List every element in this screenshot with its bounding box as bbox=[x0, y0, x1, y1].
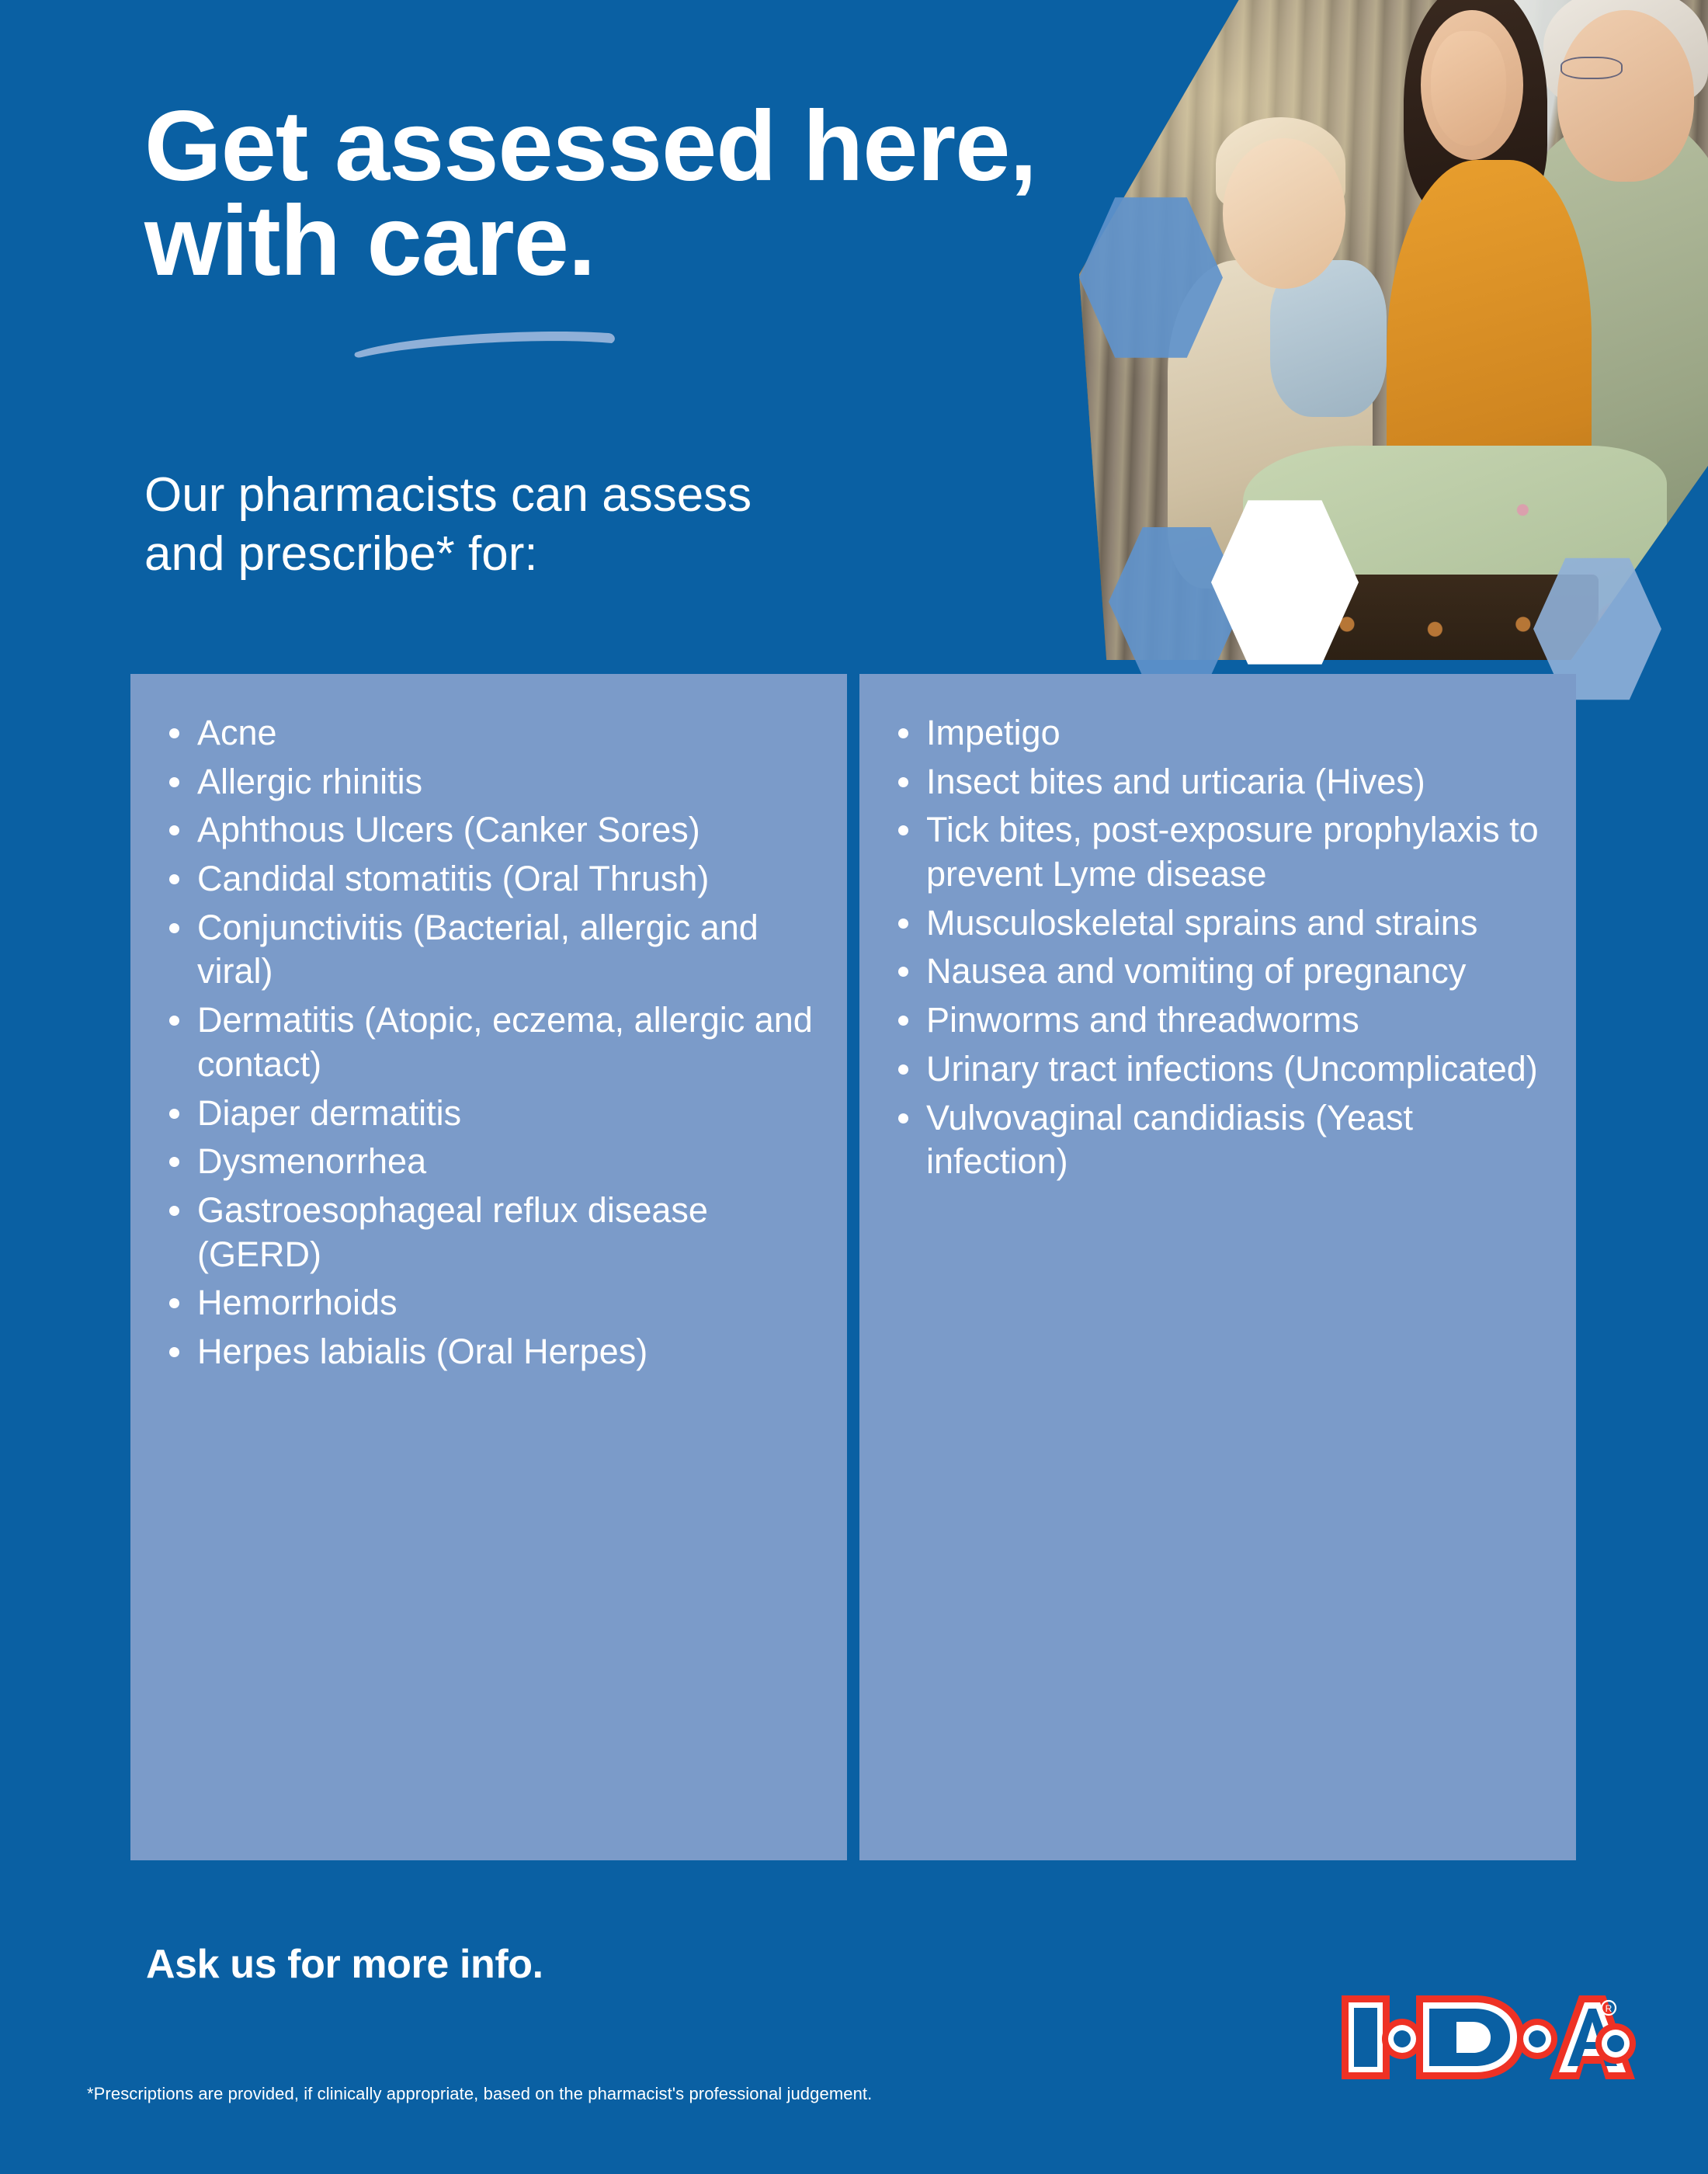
ida-logo-shapes: R bbox=[1342, 1995, 1636, 2079]
conditions-list-left: Acne Allergic rhinitis Aphthous Ulcers (… bbox=[161, 711, 816, 1374]
poster-canvas: Get assessed here, with care. Our pharma… bbox=[0, 0, 1708, 2174]
list-item: Musculoskeletal sprains and strains bbox=[890, 901, 1545, 946]
list-item: Herpes labialis (Oral Herpes) bbox=[161, 1330, 816, 1374]
photo-grandmother-head bbox=[1557, 10, 1694, 182]
list-item: Candidal stomatitis (Oral Thrush) bbox=[161, 857, 816, 901]
photo-eyeglasses bbox=[1560, 57, 1622, 79]
underline-swoosh-icon bbox=[351, 323, 619, 359]
list-item: Acne bbox=[161, 711, 816, 755]
conditions-panel-left: Acne Allergic rhinitis Aphthous Ulcers (… bbox=[130, 674, 847, 1860]
list-item: Diaper dermatitis bbox=[161, 1092, 816, 1136]
list-item: Vulvovaginal candidiasis (Yeast infectio… bbox=[890, 1096, 1545, 1184]
list-item: Conjunctivitis (Bacterial, allergic and … bbox=[161, 906, 816, 994]
list-item: Pinworms and threadworms bbox=[890, 998, 1545, 1043]
hexagon-accent-upper-left bbox=[1079, 194, 1223, 361]
registered-mark-glyph: R bbox=[1606, 2003, 1613, 2014]
list-item: Allergic rhinitis bbox=[161, 760, 816, 804]
subhead: Our pharmacists can assess and prescribe… bbox=[144, 466, 843, 583]
photo-mother-face bbox=[1431, 31, 1506, 145]
list-item: Insect bites and urticaria (Hives) bbox=[890, 760, 1545, 804]
list-item: Gastroesophageal reflux disease (GERD) bbox=[161, 1189, 816, 1276]
list-item: Tick bites, post-exposure prophylaxis to… bbox=[890, 808, 1545, 896]
conditions-panel-right: Impetigo Insect bites and urticaria (Hiv… bbox=[859, 674, 1576, 1860]
disclaimer-text: *Prescriptions are provided, if clinical… bbox=[87, 2084, 872, 2104]
list-item: Dermatitis (Atopic, eczema, allergic and… bbox=[161, 998, 816, 1086]
call-to-action-text: Ask us for more info. bbox=[146, 1941, 543, 1988]
conditions-panels: Acne Allergic rhinitis Aphthous Ulcers (… bbox=[130, 674, 1576, 1860]
list-item: Urinary tract infections (Uncomplicated) bbox=[890, 1047, 1545, 1092]
subhead-line-2: and prescribe* for: bbox=[144, 527, 538, 581]
headline-line-2: with care. bbox=[144, 194, 1061, 289]
photo-baby-head bbox=[1223, 138, 1345, 288]
list-item: Dysmenorrhea bbox=[161, 1140, 816, 1184]
subhead-line-1: Our pharmacists can assess bbox=[144, 468, 752, 522]
ida-logo: R bbox=[1338, 1989, 1638, 2090]
hexagon-accent-white bbox=[1211, 497, 1359, 668]
list-item: Nausea and vomiting of pregnancy bbox=[890, 950, 1545, 994]
list-item: Aphthous Ulcers (Canker Sores) bbox=[161, 808, 816, 853]
list-item: Impetigo bbox=[890, 711, 1545, 755]
page-title: Get assessed here, with care. bbox=[144, 99, 1061, 288]
list-item: Hemorrhoids bbox=[161, 1281, 816, 1325]
conditions-list-right: Impetigo Insect bites and urticaria (Hiv… bbox=[890, 711, 1545, 1184]
